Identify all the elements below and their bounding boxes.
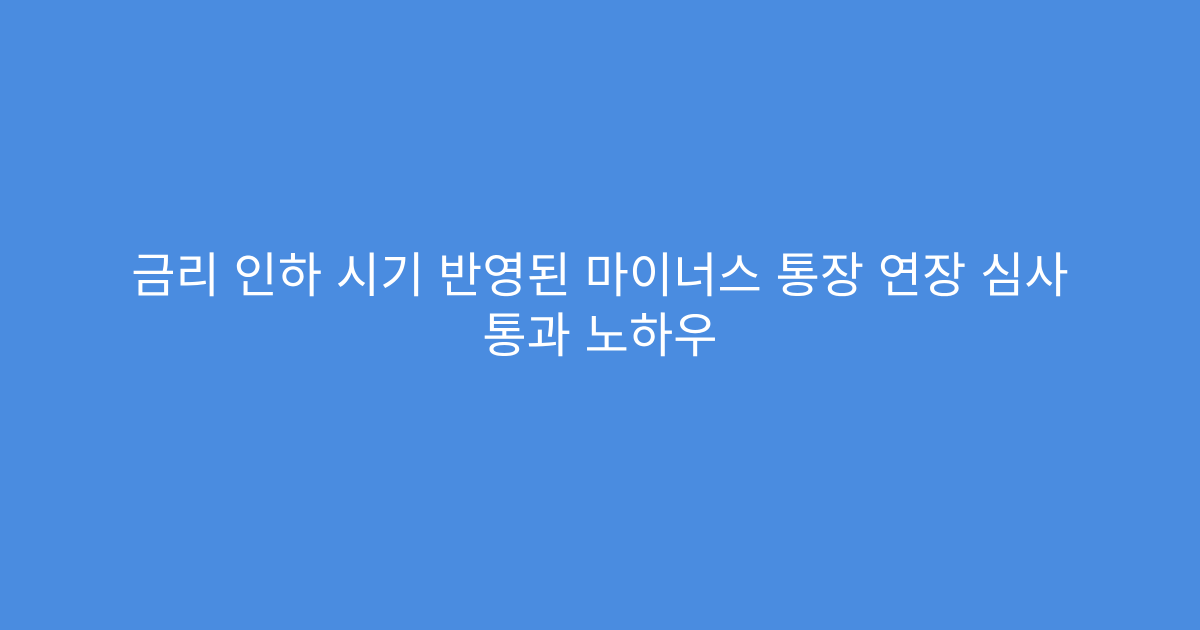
social-share-card: 금리 인하 시기 반영된 마이너스 통장 연장 심사 통과 노하우 bbox=[0, 0, 1200, 630]
page-title: 금리 인하 시기 반영된 마이너스 통장 연장 심사 통과 노하우 bbox=[90, 247, 1110, 367]
card-content-container: 금리 인하 시기 반영된 마이너스 통장 연장 심사 통과 노하우 bbox=[70, 247, 1130, 367]
